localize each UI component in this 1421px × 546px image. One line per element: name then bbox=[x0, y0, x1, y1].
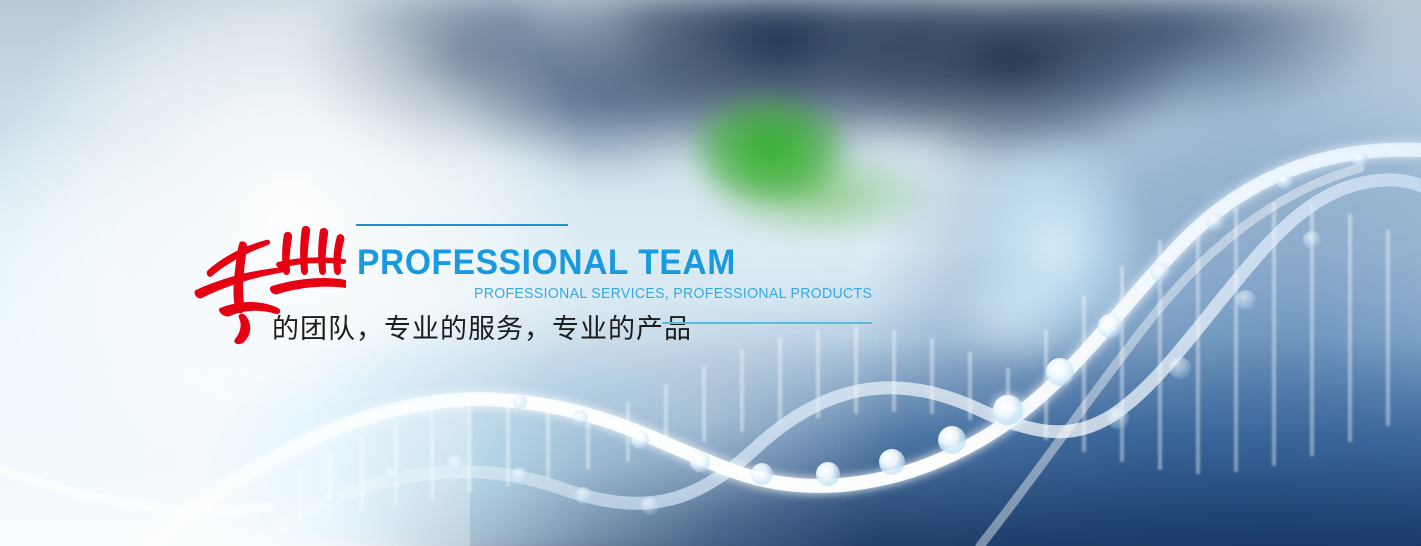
hero-banner: PROFESSIONAL TEAM PROFESSIONAL SERVICES,… bbox=[0, 0, 1421, 546]
divider-top bbox=[356, 224, 568, 226]
divider-bottom bbox=[662, 322, 872, 324]
subtitle: PROFESSIONAL SERVICES, PROFESSIONAL PROD… bbox=[474, 286, 872, 302]
page-title: PROFESSIONAL TEAM bbox=[357, 243, 736, 283]
chinese-tagline: 的团队，专业的服务，专业的产品 bbox=[272, 307, 692, 346]
banner-content: PROFESSIONAL TEAM PROFESSIONAL SERVICES,… bbox=[0, 0, 1421, 546]
